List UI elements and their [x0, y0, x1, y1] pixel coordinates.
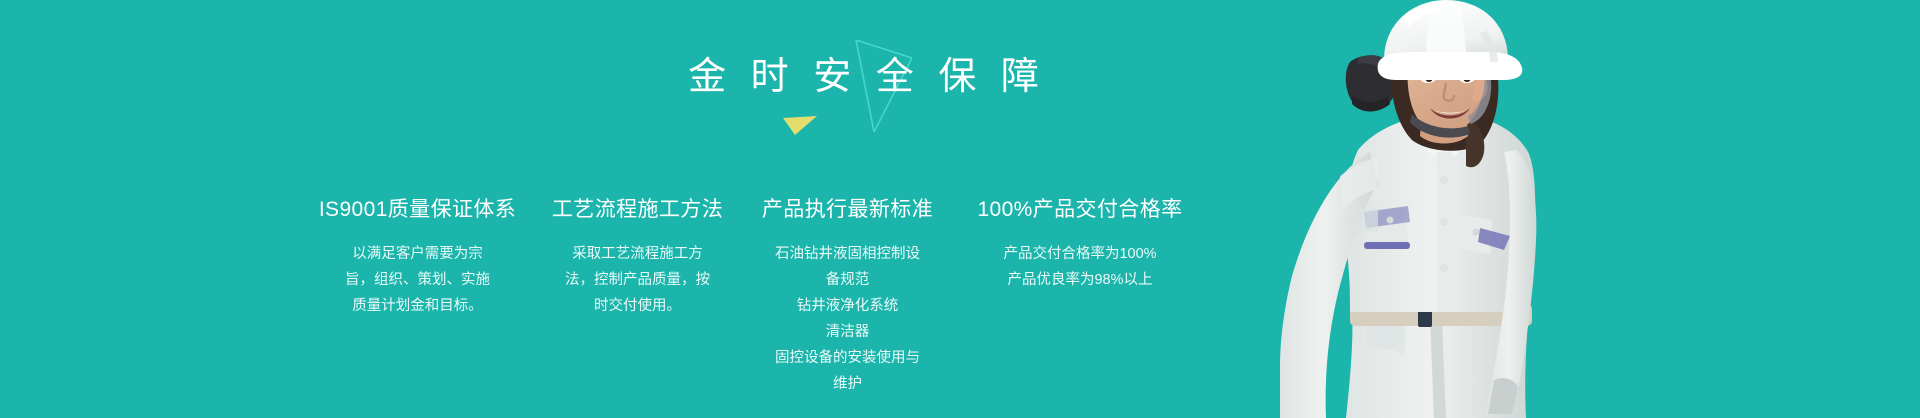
- feature-title: 100%产品交付合格率: [963, 196, 1197, 224]
- feature-line: 法，控制产品质量，按: [547, 267, 728, 293]
- feature-line: 时交付使用。: [547, 293, 728, 319]
- feature-item-quality-system: IS9001质量保证体系 以满足客户需要为宗 旨，组织、策划、实施 质量计划金和…: [300, 196, 535, 319]
- feature-line: 采取工艺流程施工方: [547, 241, 728, 267]
- feature-line: 旨，组织、策划、实施: [316, 267, 519, 293]
- feature-body: 产品交付合格率为100% 产品优良率为98%以上: [963, 241, 1197, 293]
- feature-line: 石油钻井液固相控制设: [746, 241, 949, 267]
- feature-title: 工艺流程施工方法: [547, 196, 728, 224]
- solid-triangle-icon: [783, 116, 817, 135]
- feature-title: IS9001质量保证体系: [316, 196, 519, 224]
- feature-body: 石油钻井液固相控制设 备规范 钻井液净化系统 清洁器 固控设备的安装使用与 维护: [746, 241, 949, 397]
- feature-line: 产品优良率为98%以上: [963, 267, 1197, 293]
- feature-item-delivery-pass-rate: 100%产品交付合格率 产品交付合格率为100% 产品优良率为98%以上: [955, 196, 1205, 293]
- feature-line: 以满足客户需要为宗: [316, 241, 519, 267]
- feature-line: 维护: [746, 371, 949, 397]
- feature-line: 质量计划金和目标。: [316, 293, 519, 319]
- feature-line: 备规范: [746, 267, 949, 293]
- feature-line: 钻井液净化系统: [746, 293, 949, 319]
- worker-illustration-icon: [1280, 0, 1700, 418]
- feature-line: 固控设备的安装使用与: [746, 345, 949, 371]
- banner-title-text: 金 时 安 全 保 障: [681, 52, 1046, 102]
- safety-guarantee-banner: 金 时 安 全 保 障 IS9001质量保证体系 以满足客户需要为宗 旨，组织、…: [0, 0, 1920, 418]
- feature-body: 以满足客户需要为宗 旨，组织、策划、实施 质量计划金和目标。: [316, 241, 519, 319]
- feature-item-latest-standard: 产品执行最新标准 石油钻井液固相控制设 备规范 钻井液净化系统 清洁器 固控设备…: [740, 196, 955, 397]
- feature-line: 产品交付合格率为100%: [963, 241, 1197, 267]
- feature-list: IS9001质量保证体系 以满足客户需要为宗 旨，组织、策划、实施 质量计划金和…: [300, 196, 1300, 397]
- feature-title: 产品执行最新标准: [746, 196, 949, 224]
- worker-photo: [1280, 0, 1700, 418]
- feature-item-process-method: 工艺流程施工方法 采取工艺流程施工方 法，控制产品质量，按 时交付使用。: [535, 196, 740, 319]
- feature-line: 清洁器: [746, 319, 949, 345]
- feature-body: 采取工艺流程施工方 法，控制产品质量，按 时交付使用。: [547, 241, 728, 319]
